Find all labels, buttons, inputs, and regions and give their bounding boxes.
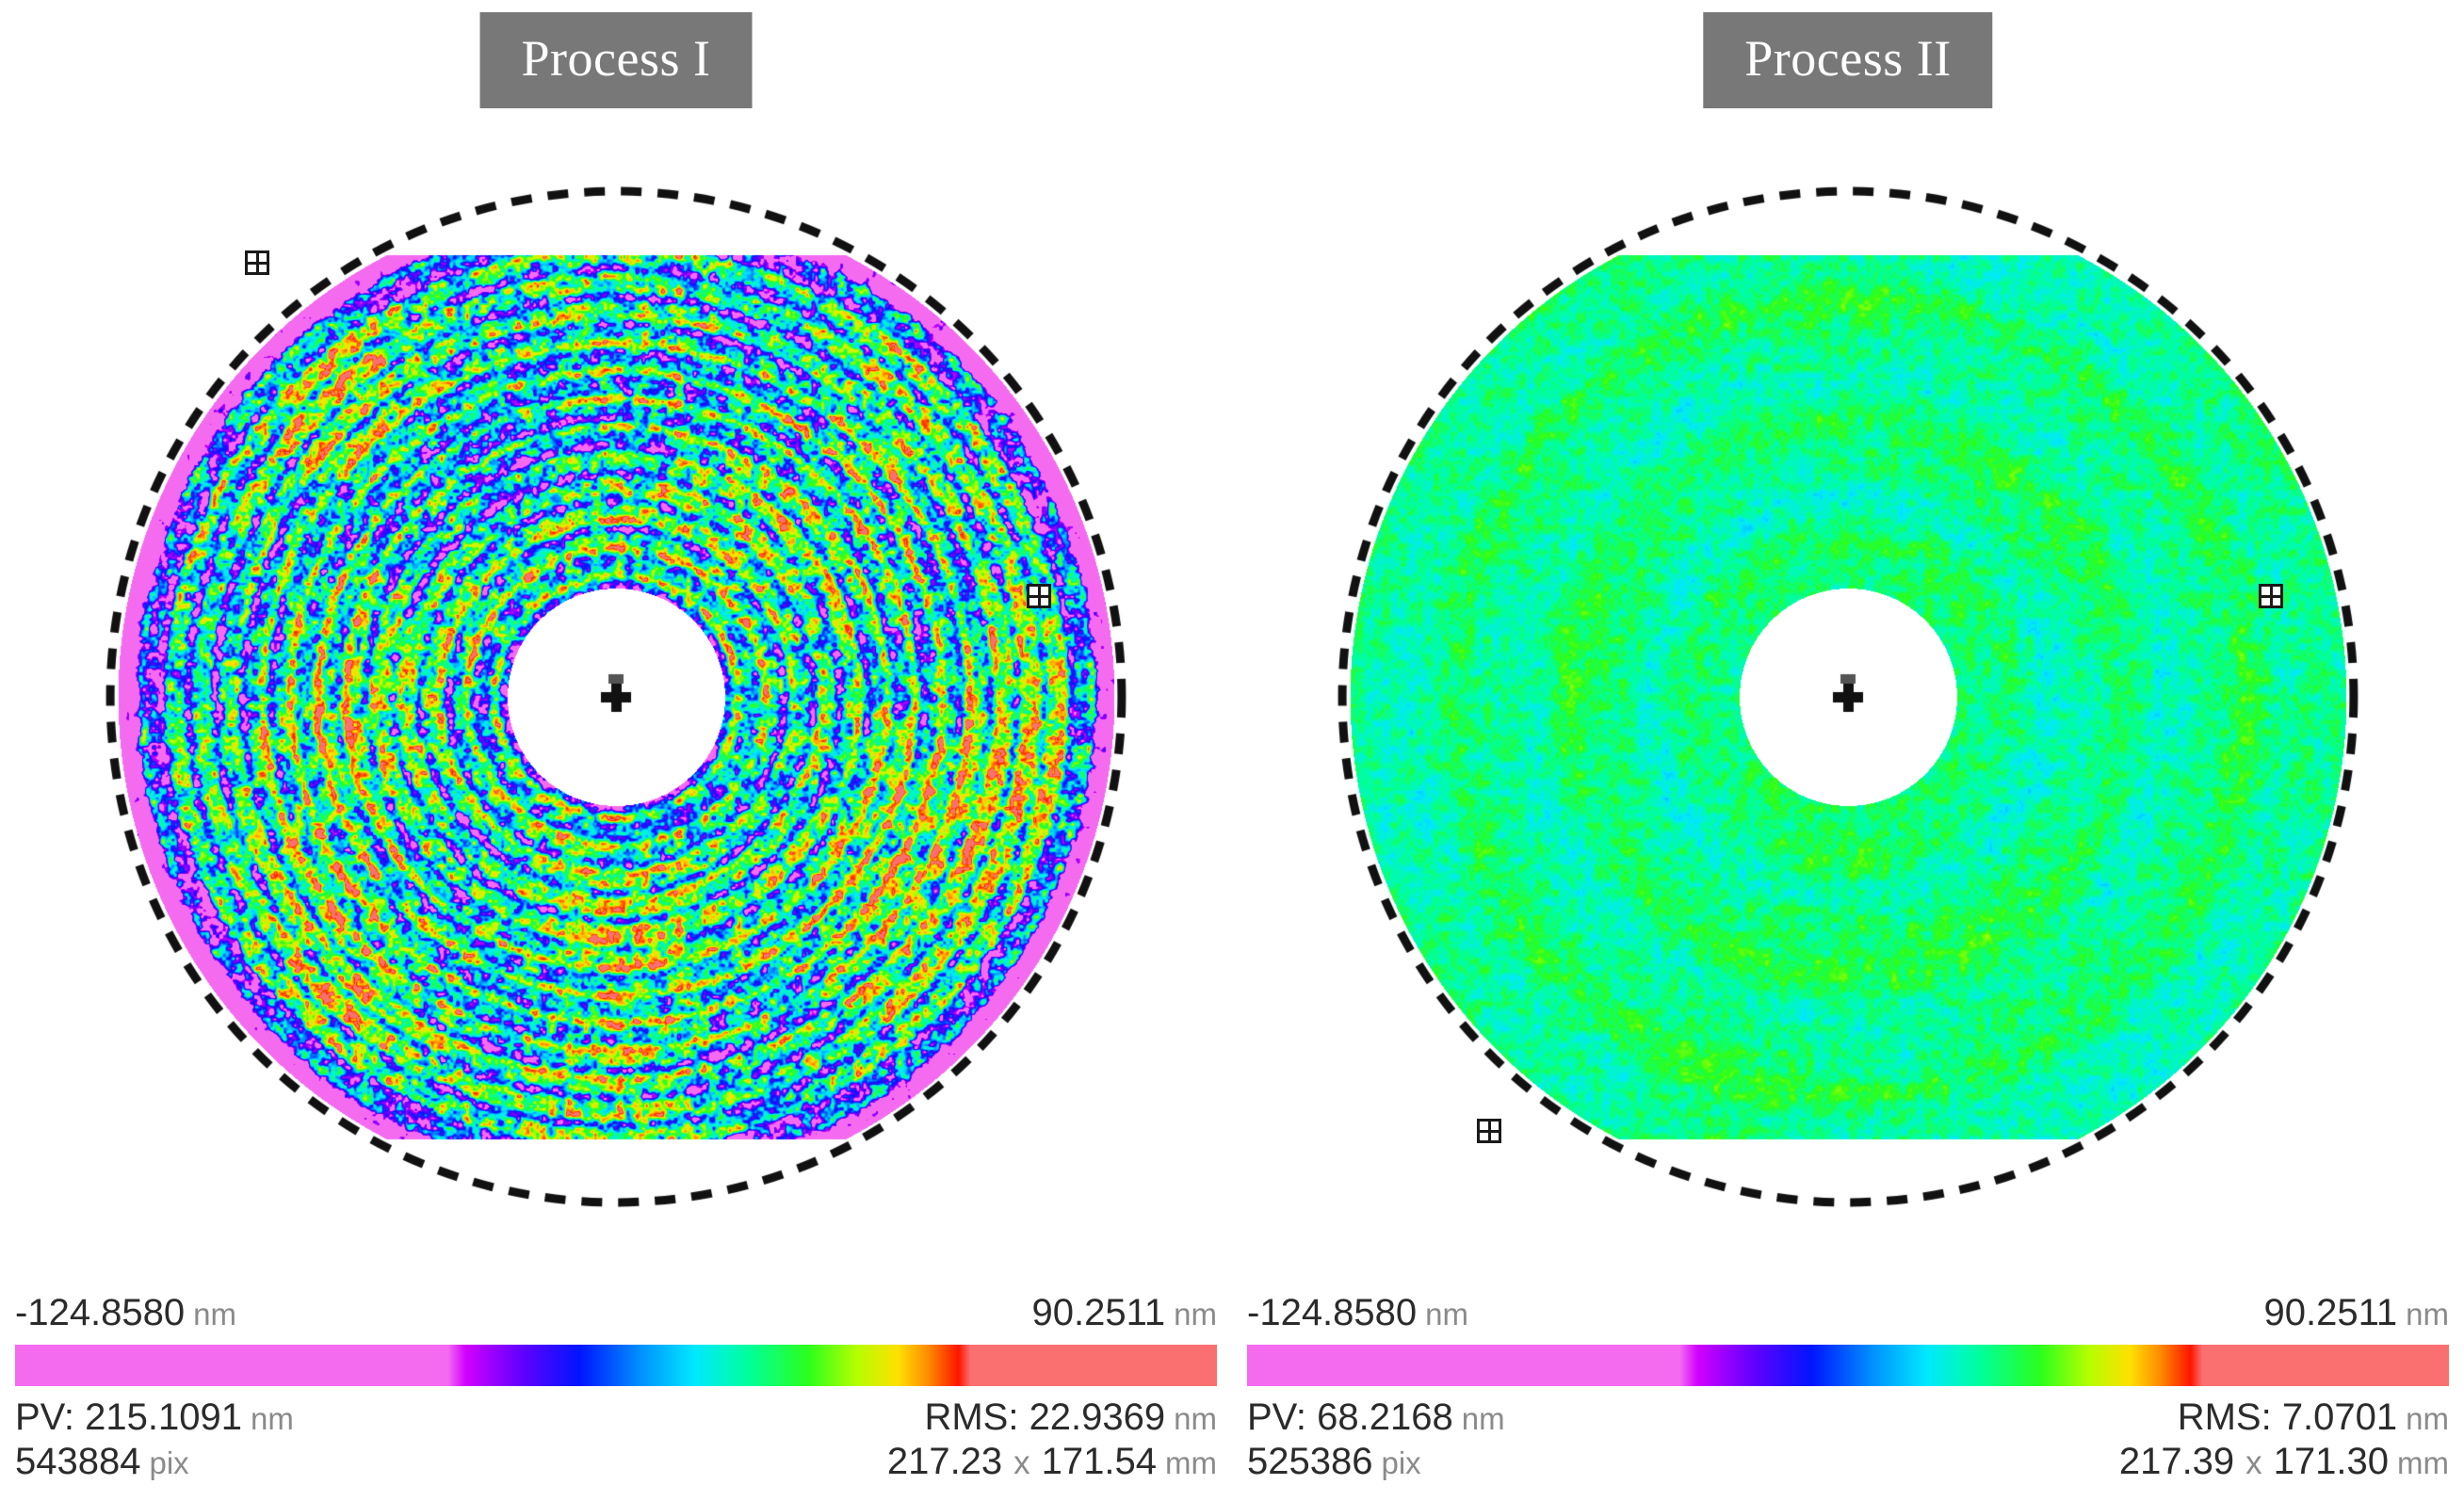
pv-stat: PV: 68.2168nm bbox=[1247, 1396, 1505, 1440]
panel-container: Process I -124.8580nm 90.2511nm PV: 215.… bbox=[0, 0, 2464, 1501]
colorbar[interactable] bbox=[1247, 1345, 2449, 1386]
scale-readout: -124.8580nm 90.2511nm PV: 68.2168nm RMS:… bbox=[1247, 1291, 2449, 1484]
resize-handle-bottom-left[interactable] bbox=[1477, 1119, 1501, 1143]
scale-readout: -124.8580nm 90.2511nm PV: 215.1091nm RMS… bbox=[15, 1291, 1217, 1484]
rms-stat: RMS: 22.9369nm bbox=[924, 1396, 1217, 1440]
scale-limits-row: -124.8580nm 90.2511nm bbox=[15, 1291, 1217, 1335]
surface-height-map[interactable] bbox=[1292, 113, 2404, 1281]
surface-height-map[interactable] bbox=[60, 113, 1172, 1281]
scale-min: -124.8580nm bbox=[15, 1291, 236, 1335]
dimensions-row: 525386pix 217.39x171.30mm bbox=[1247, 1440, 2449, 1484]
scale-limits-row: -124.8580nm 90.2511nm bbox=[1247, 1291, 2449, 1335]
resize-handle-right[interactable] bbox=[1027, 584, 1051, 608]
panel-process-2: Process II -124.8580nm 90.2511nm PV: 68.… bbox=[1232, 0, 2464, 1501]
pixel-count: 525386pix bbox=[1247, 1440, 1421, 1484]
surface-map-area bbox=[1232, 113, 2464, 1281]
panel-process-1: Process I -124.8580nm 90.2511nm PV: 215.… bbox=[0, 0, 1232, 1501]
scale-min: -124.8580nm bbox=[1247, 1291, 1468, 1335]
panel-title-badge: Process I bbox=[480, 12, 753, 108]
map-stage[interactable] bbox=[1292, 113, 2404, 1281]
rms-stat: RMS: 7.0701nm bbox=[2178, 1396, 2449, 1440]
surface-map-area bbox=[0, 113, 1232, 1281]
panel-title-badge: Process II bbox=[1703, 12, 1992, 108]
scale-max: 90.2511nm bbox=[2264, 1291, 2449, 1335]
pv-stat: PV: 215.1091nm bbox=[15, 1396, 294, 1440]
pixel-count: 543884pix bbox=[15, 1440, 189, 1484]
colorbar[interactable] bbox=[15, 1345, 1217, 1386]
map-stage[interactable] bbox=[60, 113, 1172, 1281]
scale-max: 90.2511nm bbox=[1032, 1291, 1217, 1335]
dimensions-row: 543884pix 217.23x171.54mm bbox=[15, 1440, 1217, 1484]
stats-row: PV: 215.1091nm RMS: 22.9369nm bbox=[15, 1396, 1217, 1440]
aperture-size: 217.23x171.54mm bbox=[887, 1440, 1217, 1484]
resize-handle-right[interactable] bbox=[2259, 584, 2283, 608]
resize-handle-top-left[interactable] bbox=[245, 250, 269, 275]
stats-row: PV: 68.2168nm RMS: 7.0701nm bbox=[1247, 1396, 2449, 1440]
aperture-size: 217.39x171.30mm bbox=[2119, 1440, 2449, 1484]
